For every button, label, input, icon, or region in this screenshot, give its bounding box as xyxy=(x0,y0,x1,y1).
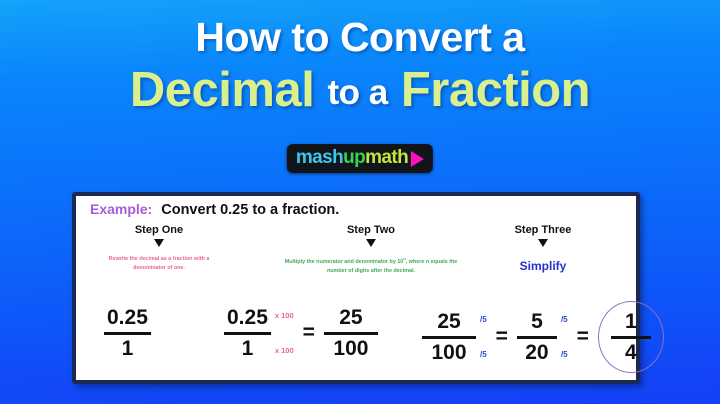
logo-text-mash: mash xyxy=(296,147,343,169)
annotation-divide-numerator: /5 xyxy=(480,315,487,324)
equals-sign-1: = xyxy=(496,325,508,349)
fraction-numerator: 1 xyxy=(622,310,640,334)
fraction-bar xyxy=(611,336,651,339)
step-two-column: Step Two Multiply the numerator and deno… xyxy=(276,224,466,277)
fraction-bar xyxy=(422,336,476,339)
step-two-desc-part1: Multiply the numerator and denominator b… xyxy=(285,259,404,265)
fraction-numerator: 25 xyxy=(336,306,365,330)
fraction-denominator: 1 xyxy=(119,337,137,361)
title-word-connector: to a xyxy=(327,73,387,112)
equation-step-three: 25 100 /5 /5 = 5 20 /5 /5 = 1 4 xyxy=(422,306,664,368)
fraction-numerator: 5 xyxy=(528,310,546,334)
final-answer-circle: 1 4 xyxy=(598,306,664,368)
logo-text-up: up xyxy=(343,147,365,169)
fraction-decimal-over-one: 0.25 1 xyxy=(104,306,151,360)
step-two-description: Multiply the numerator and denominator b… xyxy=(276,255,466,277)
fraction-25-over-100-b: 25 100 xyxy=(422,310,476,364)
fraction-denominator: 4 xyxy=(622,341,640,365)
equation-step-one: 0.25 1 xyxy=(104,306,151,360)
step-one-title: Step One xyxy=(94,224,224,236)
logo-text-math: math xyxy=(365,147,408,169)
lesson-panel: Example: Convert 0.25 to a fraction. Ste… xyxy=(72,192,640,384)
equals-sign: = xyxy=(303,321,315,345)
fraction-denominator: 1 xyxy=(239,337,257,361)
example-problem-text: Convert 0.25 to a fraction. xyxy=(161,202,339,218)
fraction-bar xyxy=(324,332,378,335)
fraction-denominator: 20 xyxy=(522,341,551,365)
fraction-5-over-20: 5 20 xyxy=(517,310,557,364)
step-three-description: Simplify xyxy=(468,259,618,273)
fraction-decimal-over-one-2: 0.25 1 xyxy=(224,306,271,360)
annotation-divide-denominator: /5 xyxy=(561,350,568,359)
fraction-bar xyxy=(224,332,271,335)
annotation-multiply-numerator: x 100 xyxy=(275,311,294,320)
example-header: Example: Convert 0.25 to a fraction. xyxy=(90,201,339,218)
fraction-bar xyxy=(517,336,557,339)
title-block: How to Convert a Decimal to a Fraction xyxy=(0,0,720,140)
lesson-panel-inner: Example: Convert 0.25 to a fraction. Ste… xyxy=(76,196,636,380)
fraction-denominator: 100 xyxy=(428,341,469,365)
annotation-divide-numerator: /5 xyxy=(561,315,568,324)
title-line-2: Decimal to a Fraction xyxy=(0,65,720,116)
title-word-fraction: Fraction xyxy=(401,63,590,117)
annotation-divide-denominator: /5 xyxy=(480,350,487,359)
step-one-description: Rewrite the decimal as a fraction with a… xyxy=(94,255,224,274)
step-three-column: Step Three Simplify xyxy=(468,224,618,273)
step-two-title: Step Two xyxy=(276,224,466,236)
step-three-title: Step Three xyxy=(468,224,618,236)
divide-annotations-2: /5 /5 xyxy=(561,311,568,363)
annotation-multiply-denominator: x 100 xyxy=(275,346,294,355)
chevron-down-icon xyxy=(366,239,376,247)
fraction-25-over-100: 25 100 xyxy=(324,306,378,360)
title-word-decimal: Decimal xyxy=(130,63,314,117)
example-label: Example: xyxy=(90,201,152,217)
mashup-math-logo[interactable]: mashupmath xyxy=(287,144,433,173)
fraction-numerator: 0.25 xyxy=(224,306,271,330)
fraction-bar xyxy=(104,332,151,335)
multiply-annotations: x 100 x 100 xyxy=(275,307,294,359)
fraction-denominator: 100 xyxy=(330,337,371,361)
chevron-down-icon xyxy=(538,239,548,247)
title-line-1: How to Convert a xyxy=(0,16,720,59)
fraction-numerator: 0.25 xyxy=(104,306,151,330)
equals-sign-2: = xyxy=(577,325,589,349)
chevron-down-icon xyxy=(154,239,164,247)
fraction-1-over-4: 1 4 xyxy=(611,310,651,364)
equation-step-two: 0.25 1 x 100 x 100 = 25 100 xyxy=(224,306,378,360)
step-one-column: Step One Rewrite the decimal as a fracti… xyxy=(94,224,224,274)
play-triangle-icon xyxy=(411,151,424,167)
divide-annotations-1: /5 /5 xyxy=(480,311,487,363)
fraction-numerator: 25 xyxy=(434,310,463,334)
